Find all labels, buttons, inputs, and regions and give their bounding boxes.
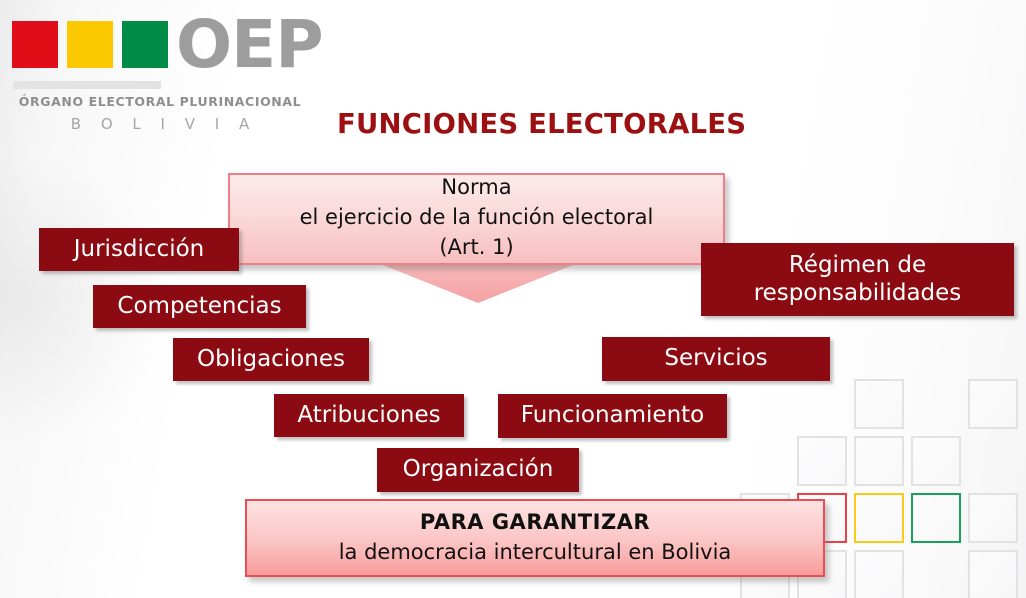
norma-callout: Norma el ejercicio de la función elector… <box>228 173 725 265</box>
function-box-label: Jurisdicción <box>74 236 205 264</box>
deco-square-yellow <box>854 493 904 543</box>
function-box-label: Servicios <box>664 345 767 373</box>
slide-canvas: OEP ÓRGANO ELECTORAL PLURINACIONAL B O L… <box>0 0 1026 598</box>
deco-square <box>911 436 961 486</box>
function-box-regimen-de-responsabilidades[interactable]: Régimen de responsabilidades <box>701 243 1014 316</box>
function-box-label: Funcionamiento <box>521 402 705 430</box>
norma-line-1: Norma <box>441 173 511 203</box>
garantizar-line-1: PARA GARANTIZAR <box>420 508 650 538</box>
logo-flag-bars <box>12 14 168 68</box>
down-arrow-icon <box>378 263 578 303</box>
logo-country: B O L I V I A <box>12 115 308 133</box>
page-title: FUNCIONES ELECTORALES <box>337 108 746 140</box>
deco-square <box>854 436 904 486</box>
logo-wordmark: OEP <box>176 14 323 77</box>
garantizar-callout: PARA GARANTIZAR la democracia intercultu… <box>245 499 825 577</box>
deco-square <box>968 493 1018 543</box>
function-box-label: Competencias <box>117 293 281 321</box>
red-bar <box>12 21 58 68</box>
logo-divider <box>13 81 161 89</box>
green-bar <box>122 21 168 68</box>
function-box-organizacion[interactable]: Organización <box>377 448 579 492</box>
deco-square <box>854 550 904 598</box>
function-box-label: Atribuciones <box>297 402 440 430</box>
deco-square <box>797 436 847 486</box>
yellow-bar <box>67 21 113 68</box>
function-box-servicios[interactable]: Servicios <box>602 337 830 381</box>
function-box-funcionamiento[interactable]: Funcionamiento <box>498 394 727 438</box>
function-box-jurisdiccion[interactable]: Jurisdicción <box>39 228 239 271</box>
function-box-obligaciones[interactable]: Obligaciones <box>173 338 369 381</box>
function-box-competencias[interactable]: Competencias <box>93 285 306 328</box>
deco-square-green <box>911 493 961 543</box>
norma-line-2: el ejercicio de la función electoral <box>300 203 654 233</box>
function-box-label: Obligaciones <box>197 346 345 374</box>
deco-square <box>968 379 1018 429</box>
deco-square <box>854 379 904 429</box>
function-box-atribuciones[interactable]: Atribuciones <box>274 394 464 437</box>
logo-subtitle: ÓRGANO ELECTORAL PLURINACIONAL <box>12 94 308 109</box>
deco-square <box>968 550 1018 598</box>
oep-logo: OEP ÓRGANO ELECTORAL PLURINACIONAL B O L… <box>12 14 342 133</box>
norma-line-3: (Art. 1) <box>439 233 513 263</box>
function-box-label: Régimen de responsabilidades <box>711 252 1004 307</box>
function-box-label: Organización <box>403 456 554 484</box>
garantizar-line-2: la democracia intercultural en Bolivia <box>339 538 732 568</box>
